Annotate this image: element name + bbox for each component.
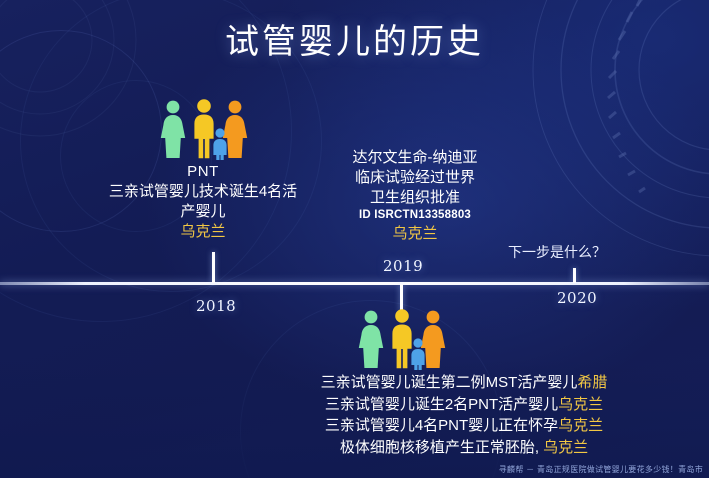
family-group-icon-top <box>158 98 254 160</box>
achievement-line: 三亲试管婴儿4名PNT婴儿正在怀孕乌克兰 <box>284 415 644 437</box>
timeline-year-2020: 2020 <box>557 289 597 307</box>
block-2018-line-0: PNT <box>96 162 310 182</box>
achievement-2-country: 乌克兰 <box>558 417 603 434</box>
block-2019top-line-1: 临床试验经过世界 <box>320 168 510 188</box>
next-step-question: 下一步是什么？ <box>508 243 648 262</box>
block-2019top-trial-id: ID ISRCTN13358803 <box>320 208 510 223</box>
text-block-2019-bottom: 三亲试管婴儿诞生第二例MST活产婴儿希腊 三亲试管婴儿诞生2名PNT活产婴儿乌克… <box>284 372 644 458</box>
page-title: 试管婴儿的历史 <box>0 14 709 63</box>
achievement-0-country: 希腊 <box>577 374 607 391</box>
achievement-line: 三亲试管婴儿诞生2名PNT活产婴儿乌克兰 <box>284 394 644 416</box>
achievement-3-text: 极体细胞核移植产生正常胚胎, <box>340 439 543 456</box>
block-2018-line-2: 产婴儿 <box>96 202 310 222</box>
watermark-text: 寻麟帮 － 青岛正规医院做试管婴儿要花多少钱！青岛市 <box>499 464 703 475</box>
achievement-2-text: 三亲试管婴儿4名PNT婴儿正在怀孕 <box>325 417 558 434</box>
achievement-line: 极体细胞核移植产生正常胚胎, 乌克兰 <box>284 437 644 459</box>
timeline-tick-2018 <box>212 252 215 283</box>
family-group-icon-bottom <box>356 308 452 370</box>
achievement-0-text: 三亲试管婴儿诞生第二例MST活产婴儿 <box>321 374 578 391</box>
timeline-year-2018: 2018 <box>196 297 236 315</box>
block-2019top-line-0: 达尔文生命-纳迪亚 <box>320 148 510 168</box>
timeline-tick-2020 <box>573 268 576 283</box>
achievement-3-country: 乌克兰 <box>543 439 588 456</box>
timeline-year-2019: 2019 <box>383 257 423 275</box>
block-2018-line-1: 三亲试管婴儿技术诞生4名活 <box>96 182 310 202</box>
slide-canvas: 试管婴儿的历史 2018 2019 2020 PNT <box>0 0 709 478</box>
text-block-2019-top: 达尔文生命-纳迪亚 临床试验经过世界 卫生组织批准 ID ISRCTN13358… <box>320 148 510 244</box>
block-2019top-country: 乌克兰 <box>320 224 510 244</box>
achievement-line: 三亲试管婴儿诞生第二例MST活产婴儿希腊 <box>284 372 644 394</box>
block-2019top-line-2: 卫生组织批准 <box>320 188 510 208</box>
text-block-2018: PNT 三亲试管婴儿技术诞生4名活 产婴儿 乌克兰 <box>96 162 310 242</box>
achievement-1-country: 乌克兰 <box>558 396 603 413</box>
timeline-axis <box>0 282 709 285</box>
block-2018-country: 乌克兰 <box>96 222 310 242</box>
achievement-1-text: 三亲试管婴儿诞生2名PNT活产婴儿 <box>325 396 558 413</box>
